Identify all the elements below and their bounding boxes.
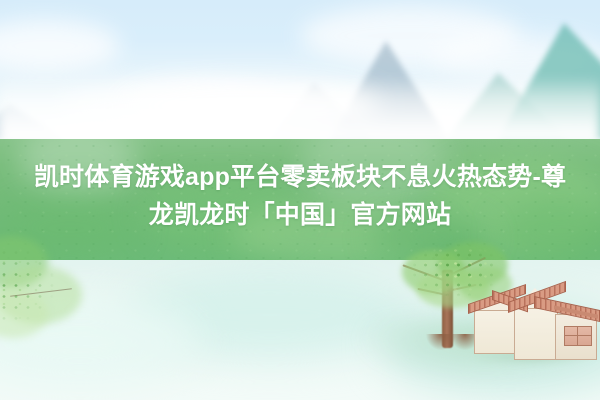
- mountain-range: [0, 0, 600, 139]
- house-window: [564, 326, 592, 346]
- page-title-line-2: 龙凯龙时「中国」官方网站: [0, 196, 600, 234]
- window-mullion: [565, 335, 591, 336]
- window-mullion: [577, 327, 578, 345]
- house-wall-front: [514, 308, 558, 360]
- page-title: 凯时体育游戏app平台零卖板块不息火热态势-尊 龙凯龙时「中国」官方网站: [0, 158, 600, 234]
- banner: 凯时体育游戏app平台零卖板块不息火热态势-尊 龙凯龙时「中国」官方网站: [0, 0, 600, 400]
- mist-overlay: [0, 75, 600, 139]
- house: [470, 280, 596, 366]
- page-title-line-1: 凯时体育游戏app平台零卖板块不息火热态势-尊: [0, 158, 600, 196]
